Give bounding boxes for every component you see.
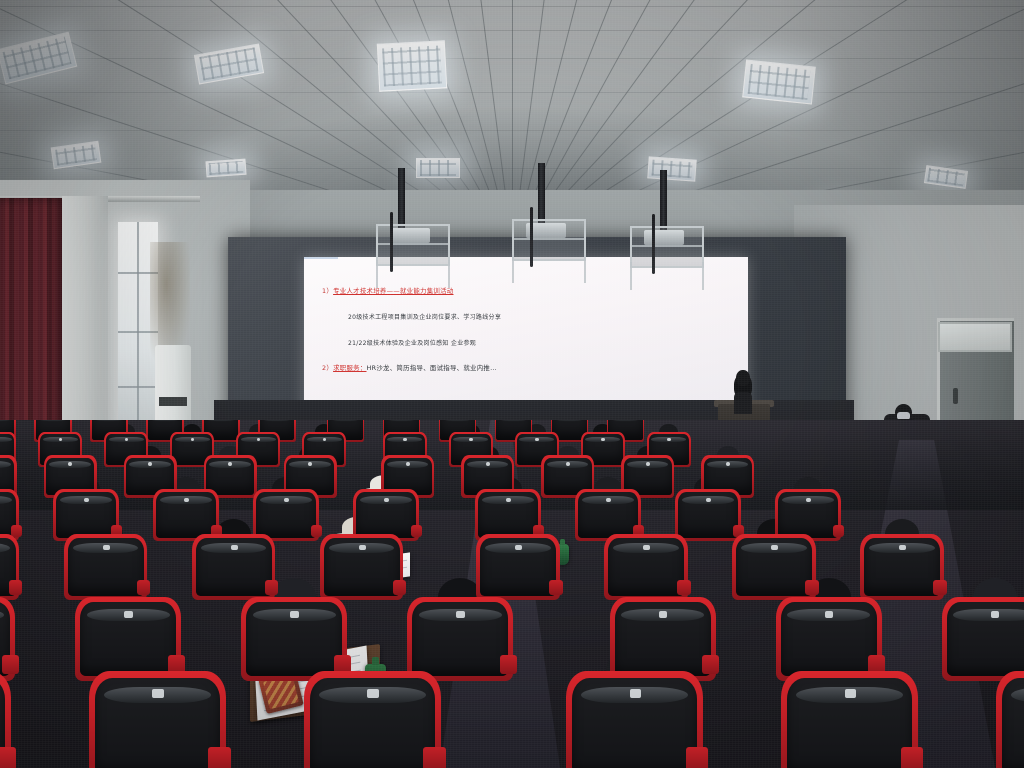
auditorium-seat[interactable] [864,538,940,596]
seat-brand-badge [506,498,511,502]
auditorium-seat[interactable] [480,538,556,596]
seat-armrest [833,525,844,537]
seat-brand-badge [659,611,668,618]
ceiling-projector [390,228,430,243]
auditorium-seat[interactable] [678,492,738,538]
seat-armrest [0,747,16,768]
seat-armrest [423,747,445,768]
wall-water-stain [150,242,190,362]
auditorium-seat[interactable] [778,492,838,538]
seat-brand-badge [257,438,261,441]
seat-armrest [311,525,322,537]
auditorium-seat[interactable] [412,602,508,676]
seat-brand-badge [845,689,856,698]
seat-armrest [9,580,23,595]
auditorium-seat[interactable] [310,678,435,768]
slide-bullet-2: 2）求职服务：HR沙龙、简历指导、面试指导、就业内推… [322,363,497,372]
seat-brand-badge [469,438,473,441]
seat-armrest [265,580,279,595]
presenter-standing-at-podium [733,370,753,410]
auditorium-seat[interactable] [95,678,220,768]
slide-bullet-2-highlight: 求职服务： [333,364,366,372]
projector-rig-right [626,170,706,280]
seat-armrest [393,580,407,595]
slide-bullet-1-highlight: 专业人才技术培养——就业能力集训活动 [333,287,453,295]
seat-brand-badge [384,498,389,502]
presenter-body [734,392,752,414]
seat-armrest [677,580,691,595]
projector-cage-legs [512,255,586,283]
seat-brand-badge [601,438,605,441]
seat-brand-badge [630,689,641,698]
auditorium-seat[interactable] [787,678,912,768]
auditorium-seat[interactable] [578,492,638,538]
projector-cable [530,207,533,267]
auditorium-seat[interactable] [80,602,176,676]
seat-brand-badge [323,438,327,441]
auditorium-seat[interactable] [156,492,216,538]
seat-brand-badge [515,545,522,550]
seat-brand-badge [191,438,195,441]
seat-brand-badge [991,611,1000,618]
projector-cable [390,212,393,272]
seat-brand-badge [84,498,89,502]
projector-cage-legs [630,262,704,290]
slide-sub-line-1: 20级技术工程项目集训及企业岗位要求、学习路线分享 [348,312,501,321]
seat-armrest [805,580,819,595]
auditorium-seat[interactable] [56,492,116,538]
auditorium-seat[interactable] [781,602,877,676]
seat-brand-badge [806,498,811,502]
auditorium-seat[interactable] [947,602,1024,676]
seat-armrest [411,525,422,537]
seat-brand-badge [667,438,671,441]
projector-cage-legs [376,260,450,288]
seat-armrest [933,580,947,595]
seat-armrest [702,655,719,674]
seat-brand-badge [606,498,611,502]
seat-brand-badge [535,438,539,441]
seat-brand-badge [231,545,238,550]
seat-brand-badge [103,545,110,550]
seat-armrest [137,580,151,595]
door-handle[interactable] [953,388,958,404]
projector-cable [652,214,655,274]
auditorium-seat[interactable] [0,492,16,538]
seat-brand-badge [825,611,834,618]
seat-brand-badge [403,438,407,441]
seat-brand-badge [59,438,63,441]
auditorium-seat[interactable] [1002,678,1024,768]
projector-mount-pole [398,168,405,230]
auditorium-seat[interactable] [324,538,400,596]
auditorium-seat[interactable] [478,492,538,538]
slide-bullet-1-number: 1） [322,287,333,295]
auditorium-seat[interactable] [68,538,144,596]
slide-bullet-2-number: 2） [322,364,333,372]
seat-brand-badge [646,462,650,465]
seat-armrest [686,747,708,768]
seat-armrest [208,747,230,768]
seat-brand-badge [290,611,299,618]
auditorium-seat[interactable] [736,538,812,596]
auditorium-seat[interactable] [196,538,272,596]
seat-brand-badge [184,498,189,502]
seat-brand-badge [771,545,778,550]
auditorium-seat[interactable] [0,602,10,676]
projector-rig-left [372,168,452,278]
seat-brand-badge [152,689,163,698]
seat-brand-badge [406,462,410,465]
seat-brand-badge [643,545,650,550]
seat-brand-badge [124,611,133,618]
seat-armrest [901,747,923,768]
auditorium-seat[interactable] [0,678,5,768]
seat-armrest [500,655,517,674]
auditorium-seat[interactable] [615,602,711,676]
seat-brand-badge [566,462,570,465]
slide-bullet-2-rest: HR沙龙、简历指导、面试指导、就业内推… [367,364,497,372]
wall-pillar [62,196,108,456]
projector-rig-center [508,163,588,273]
seat-headrest-band [953,609,1024,622]
seat-brand-badge [125,438,129,441]
seat-brand-badge [367,689,378,698]
auditorium-seat[interactable] [246,602,342,676]
seat-brand-badge [456,611,465,618]
auditorium-seat[interactable] [356,492,416,538]
lecture-hall-photo: 1）专业人才技术培养——就业能力集训活动 20级技术工程项目集训及企业岗位要求、… [0,0,1024,768]
seat-brand-badge [359,545,366,550]
door-transom-window [938,322,1012,352]
slide-sub-line-2: 21/22级技术体验及企业及岗位感知 企业参观 [348,338,476,347]
ceiling-projector [644,230,684,245]
auditorium-seat[interactable] [0,538,16,596]
seat-brand-badge [486,462,490,465]
auditorium-seat[interactable] [256,492,316,538]
projector-mount-pole [660,170,667,232]
auditorium-seat[interactable] [572,678,697,768]
seat-brand-badge [284,498,289,502]
projector-mount-pole [538,163,545,225]
presenter-head [736,370,750,386]
auditorium-seat[interactable] [608,538,684,596]
seat-brand-badge [726,462,730,465]
seat-brand-badge [899,545,906,550]
seat-brand-badge [706,498,711,502]
seat-armrest [549,580,563,595]
seat-armrest [2,655,19,674]
